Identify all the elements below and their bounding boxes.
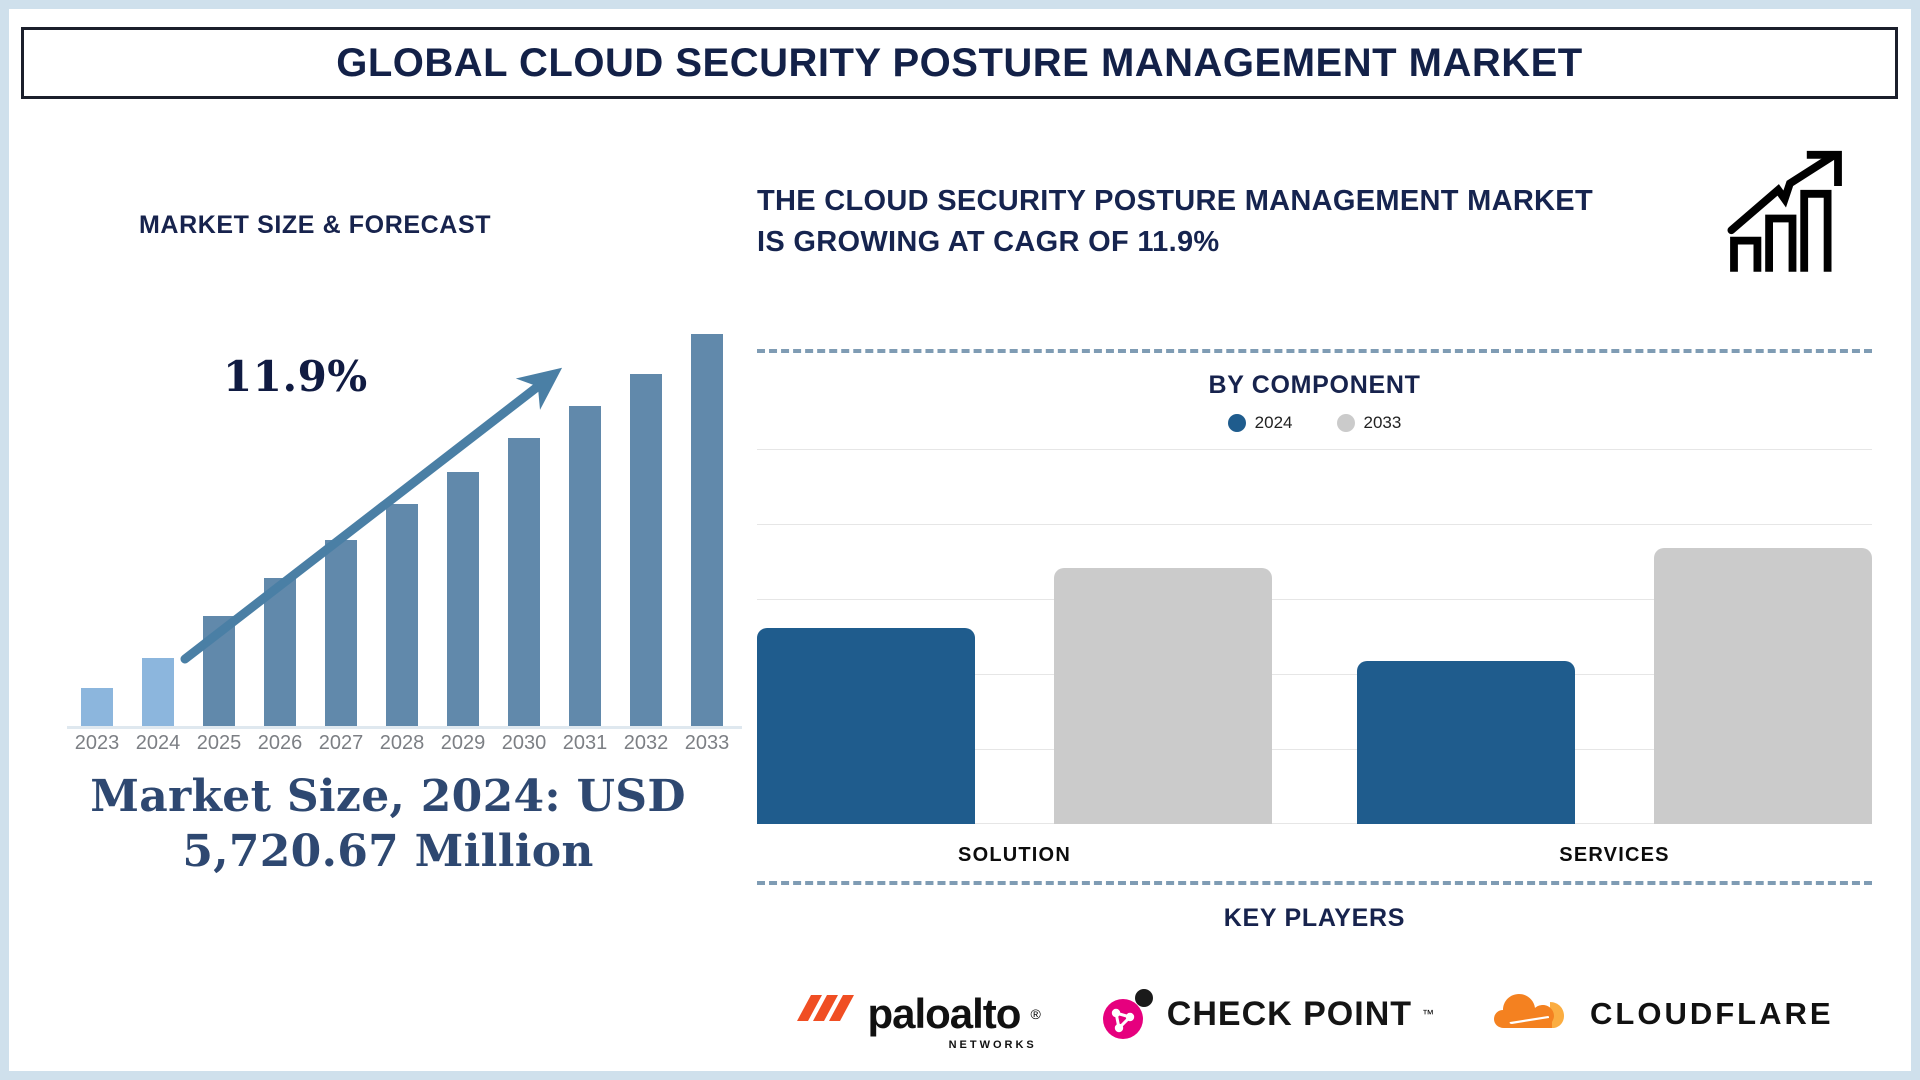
- market-size-value: Market Size, 2024: USD 5,720.67 Million: [23, 769, 753, 879]
- market-size-line-1: Market Size, 2024: USD: [23, 769, 753, 824]
- forecast-year-label: 2031: [556, 732, 614, 755]
- component-category-labels: SOLUTIONSERVICES: [757, 844, 1872, 874]
- chart-baseline: [67, 726, 742, 729]
- divider-top: [757, 349, 1872, 353]
- page-title-box: GLOBAL CLOUD SECURITY POSTURE MANAGEMENT…: [21, 27, 1898, 99]
- divider-bottom: [757, 881, 1872, 885]
- page-title: GLOBAL CLOUD SECURITY POSTURE MANAGEMENT…: [336, 41, 1583, 86]
- forecast-year-label: 2030: [495, 732, 553, 755]
- legend-swatch-icon: [1228, 414, 1246, 432]
- by-component-title: BY COMPONENT: [757, 371, 1872, 400]
- growth-bar-chart-arrow-icon: [1721, 147, 1851, 277]
- legend-item-2024[interactable]: 2024: [1228, 413, 1293, 433]
- component-bar-solution-2033: [1054, 568, 1272, 824]
- checkpoint-trademark: ™: [1422, 1007, 1434, 1021]
- checkpoint-wordmark: CHECK POINT: [1167, 995, 1412, 1034]
- component-bar-services-2033: [1654, 548, 1872, 824]
- forecast-year-label: 2024: [129, 732, 187, 755]
- forecast-bar-fill: [81, 688, 113, 726]
- logo-check-point[interactable]: CHECK POINT ™: [1099, 987, 1434, 1041]
- cloudflare-cloud-icon: [1492, 988, 1580, 1040]
- component-bar-services-2024: [1357, 661, 1575, 824]
- legend-item-2033[interactable]: 2033: [1337, 413, 1402, 433]
- forecast-year-label: 2026: [251, 732, 309, 755]
- forecast-year-label: 2025: [190, 732, 248, 755]
- chart-gridline: [757, 524, 1872, 525]
- infographic-page: GLOBAL CLOUD SECURITY POSTURE MANAGEMENT…: [0, 0, 1920, 1080]
- component-label-services: SERVICES: [1317, 844, 1912, 867]
- forecast-year-label: 2028: [373, 732, 431, 755]
- forecast-bar-fill: [508, 438, 540, 726]
- forecast-bar: [691, 334, 723, 726]
- paloalto-networks-subtext: NETWORKS: [949, 1039, 1037, 1051]
- forecast-bar-fill: [142, 658, 174, 726]
- market-size-forecast-chart: [45, 259, 745, 729]
- chart-gridline: [757, 449, 1872, 450]
- right-panel: THE CLOUD SECURITY POSTURE MANAGEMENT MA…: [749, 119, 1909, 1074]
- market-size-line-2: 5,720.67 Million: [23, 824, 753, 879]
- by-component-chart: [757, 449, 1872, 824]
- forecast-bar-fill: [447, 472, 479, 726]
- legend-swatch-icon: [1337, 414, 1355, 432]
- market-size-forecast-label: MARKET SIZE & FORECAST: [139, 211, 491, 240]
- cloudflare-wordmark: CLOUDFLARE: [1590, 996, 1834, 1032]
- key-players-title: KEY PLAYERS: [757, 904, 1872, 933]
- forecast-bar: [264, 578, 296, 726]
- forecast-year-label: 2029: [434, 732, 492, 755]
- forecast-year-label: 2033: [678, 732, 736, 755]
- component-chart-legend: 20242033: [757, 413, 1872, 433]
- forecast-year-axis: 2023202420252026202720282029203020312032…: [45, 732, 745, 762]
- forecast-year-label: 2023: [68, 732, 126, 755]
- forecast-bar: [386, 504, 418, 726]
- forecast-bar-fill: [386, 504, 418, 726]
- component-bar-solution-2024: [757, 628, 975, 824]
- paloalto-wordmark: paloalto: [867, 993, 1020, 1035]
- logo-paloalto-networks[interactable]: paloalto ® NETWORKS: [795, 989, 1040, 1039]
- forecast-bar-fill: [264, 578, 296, 726]
- forecast-bar-fill: [630, 374, 662, 726]
- forecast-bar: [447, 472, 479, 726]
- forecast-bar-fill: [325, 540, 357, 726]
- left-panel: MARKET SIZE & FORECAST 11.9% 20232024202…: [23, 119, 753, 1069]
- checkpoint-mark-icon: [1099, 987, 1157, 1041]
- cagr-headline: THE CLOUD SECURITY POSTURE MANAGEMENT MA…: [757, 181, 1627, 263]
- component-label-solution: SOLUTION: [717, 844, 1312, 867]
- forecast-bar: [569, 406, 601, 726]
- forecast-bar: [630, 374, 662, 726]
- logo-cloudflare[interactable]: CLOUDFLARE: [1492, 988, 1834, 1040]
- legend-label: 2024: [1255, 413, 1293, 433]
- forecast-bar-fill: [203, 616, 235, 726]
- paloalto-registered-mark: ®: [1030, 1006, 1040, 1022]
- forecast-bar-fill: [569, 406, 601, 726]
- forecast-year-label: 2027: [312, 732, 370, 755]
- forecast-bar: [142, 658, 174, 726]
- infographic-canvas: GLOBAL CLOUD SECURITY POSTURE MANAGEMENT…: [9, 9, 1911, 1071]
- forecast-bar: [81, 688, 113, 726]
- legend-label: 2033: [1364, 413, 1402, 433]
- forecast-bar: [325, 540, 357, 726]
- key-players-logos: paloalto ® NETWORKS: [757, 959, 1872, 1069]
- forecast-bar-fill: [691, 334, 723, 726]
- forecast-bar: [203, 616, 235, 726]
- forecast-bar: [508, 438, 540, 726]
- forecast-year-label: 2032: [617, 732, 675, 755]
- paloalto-mark-icon: [795, 989, 857, 1039]
